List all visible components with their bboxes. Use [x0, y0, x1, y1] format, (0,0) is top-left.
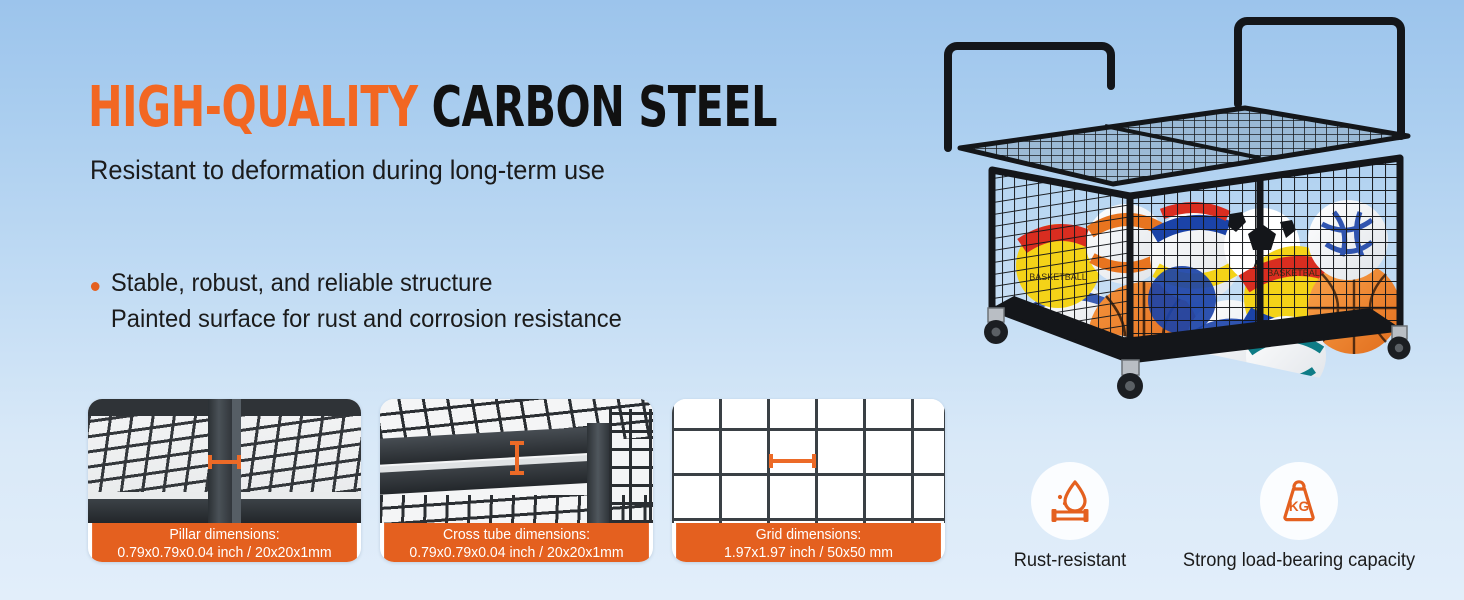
- caption-line-1: Pillar dimensions:: [92, 526, 357, 544]
- headline-accent: HIGH-QUALITY: [88, 75, 418, 140]
- feature-rust-resistant: Rust-resistant: [975, 462, 1165, 572]
- pillar-photo: [88, 399, 361, 523]
- spec-panel-cross-tube: Cross tube dimensions: 0.79x0.79x0.04 in…: [380, 399, 653, 562]
- kg-icon-text: KG: [1289, 499, 1309, 514]
- horizontal-measure-bracket-icon: [208, 455, 241, 469]
- caption-line-1: Grid dimensions:: [676, 526, 941, 544]
- panel-caption: Pillar dimensions: 0.79x0.79x0.04 inch /…: [92, 523, 357, 562]
- kg-weight-icon: KG: [1274, 476, 1324, 526]
- horizontal-measure-bracket-icon: [769, 454, 816, 468]
- caption-line-2: 0.79x0.79x0.04 inch / 20x20x1mm: [384, 544, 649, 562]
- caster-front-left: [984, 308, 1008, 344]
- feature-label: Rust-resistant: [979, 550, 1161, 572]
- caption-line-2: 0.79x0.79x0.04 inch / 20x20x1mm: [92, 544, 357, 562]
- panel-caption: Cross tube dimensions: 0.79x0.79x0.04 in…: [384, 523, 649, 562]
- spec-panel-pillar: Pillar dimensions: 0.79x0.79x0.04 inch /…: [88, 399, 361, 562]
- headline-dark: CARBON STEEL: [418, 75, 777, 140]
- feature-bullet-list: Stable, robust, and reliable structure P…: [90, 265, 810, 337]
- cart-cage: BASKETBALL: [992, 158, 1400, 396]
- bullet-text: Stable, robust, and reliable structure: [111, 269, 493, 297]
- caption-line-1: Cross tube dimensions:: [384, 526, 649, 544]
- corner-post: [587, 423, 609, 523]
- product-image-ball-cart: BASKETBALL: [930, 8, 1460, 453]
- list-item: Stable, robust, and reliable structure: [90, 265, 774, 301]
- feature-label: Strong load-bearing capacity: [1173, 550, 1425, 572]
- panel-caption: Grid dimensions: 1.97x1.97 inch / 50x50 …: [676, 523, 941, 562]
- caption-line-2: 1.97x1.97 inch / 50x50 mm: [676, 544, 941, 562]
- spec-panel-grid: Grid dimensions: 1.97x1.97 inch / 50x50 …: [672, 399, 945, 562]
- page-title: HIGH-QUALITY CARBON STEEL: [88, 80, 777, 136]
- subheadline: Resistant to deformation during long-ter…: [90, 155, 605, 186]
- water-drop-on-pipe-icon: [1045, 476, 1095, 526]
- caster-front-center: [1117, 360, 1143, 399]
- promo-banner: HIGH-QUALITY CARBON STEEL Resistant to d…: [0, 0, 1464, 600]
- bullet-dot-icon: [91, 282, 100, 291]
- grid-photo: [672, 399, 945, 523]
- vertical-measure-bracket-icon: [510, 441, 524, 475]
- bullet-text: Painted surface for rust and corrosion r…: [111, 305, 622, 333]
- feature-icon-circle: [1031, 462, 1109, 540]
- feature-icon-circle: KG: [1260, 462, 1338, 540]
- cross-tube-photo: [380, 399, 653, 523]
- feature-load-bearing: KG Strong load-bearing capacity: [1168, 462, 1430, 572]
- right-mesh-texture: [609, 409, 653, 523]
- list-item: Painted surface for rust and corrosion r…: [90, 301, 774, 337]
